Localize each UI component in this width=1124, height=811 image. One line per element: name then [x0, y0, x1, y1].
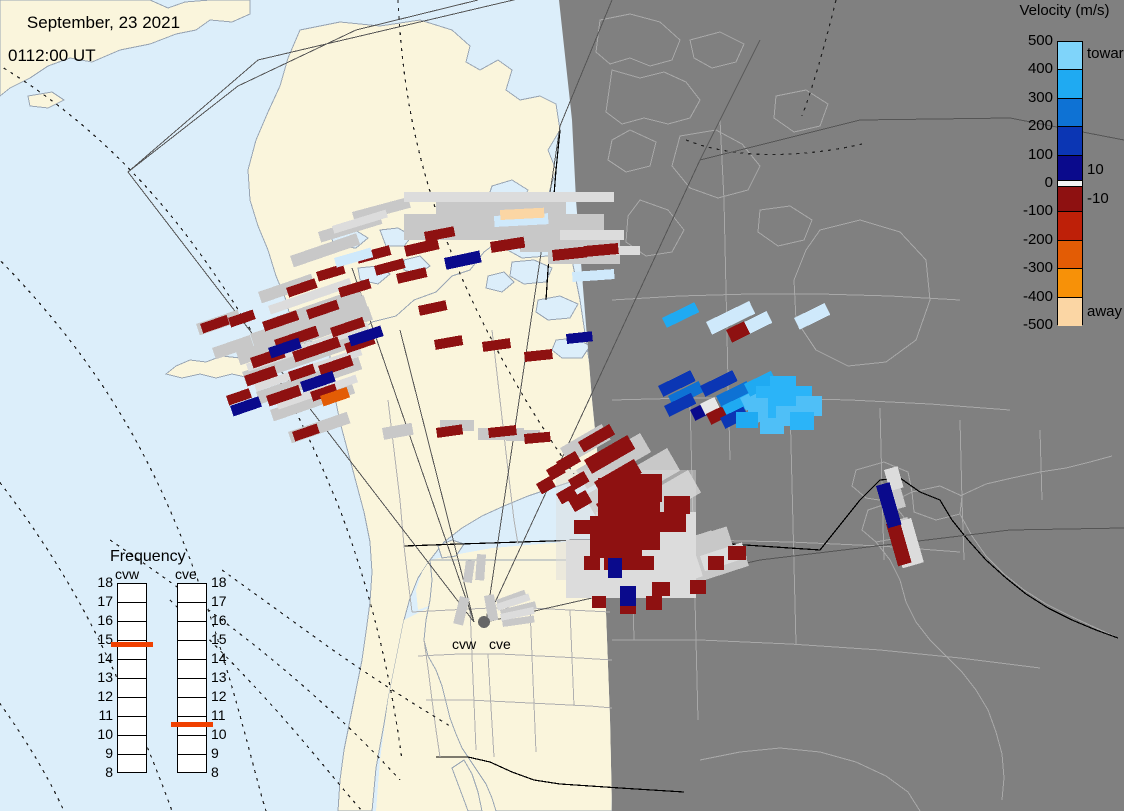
frequency-tick-label: 14: [93, 650, 113, 666]
frequency-legend: Frequency cvwcve 18181717161615151414131…: [85, 548, 245, 783]
frequency-tick-label: 13: [93, 669, 113, 685]
radar-site-label: cve: [489, 636, 511, 652]
frequency-tick-label: 17: [211, 593, 227, 609]
colorbar-segment: [1058, 156, 1082, 182]
frequency-tick-label: 11: [93, 707, 113, 723]
colorbar-segment: [1058, 127, 1082, 155]
frequency-tick-label: 17: [93, 593, 113, 609]
frequency-tick-label: 18: [211, 574, 227, 590]
frequency-cell: [178, 622, 206, 641]
colorbar-side-label: away: [1087, 303, 1122, 320]
frequency-cell: [178, 641, 206, 660]
colorbar-bar: [1057, 41, 1083, 325]
colorbar-tick-label: 100: [1028, 146, 1053, 163]
frequency-tick-label: 9: [211, 745, 219, 761]
frequency-tick-label: 8: [93, 764, 113, 780]
colorbar-segment: [1058, 99, 1082, 127]
frequency-cell: [178, 755, 206, 774]
frequency-cell: [118, 679, 146, 698]
colorbar-side-label: toward: [1087, 45, 1124, 62]
frequency-cell: [118, 717, 146, 736]
frequency-tick-label: 18: [93, 574, 113, 590]
colorbar-tick-label: -500: [1023, 316, 1053, 333]
colorbar-segment: [1058, 187, 1082, 213]
colorbar-side-label: -10: [1087, 190, 1109, 207]
colorbar-segment: [1058, 70, 1082, 98]
colorbar-tick-label: -100: [1023, 202, 1053, 219]
colorbar-side-label: 10: [1087, 161, 1104, 178]
frequency-marker: [171, 722, 213, 727]
colorbar-tick-label: 500: [1028, 32, 1053, 49]
colorbar-segment: [1058, 298, 1082, 326]
frequency-column-header: cvw: [115, 566, 139, 582]
colorbar-tick-label: 300: [1028, 89, 1053, 106]
radar-site-marker: [478, 616, 490, 628]
colorbar-tick-label: -400: [1023, 288, 1053, 305]
frequency-tick-label: 10: [211, 726, 227, 742]
frequency-cell: [118, 660, 146, 679]
title-time: 0112:00 UT: [8, 48, 180, 64]
frequency-cell: [178, 584, 206, 603]
colorbar-tick-label: 200: [1028, 117, 1053, 134]
frequency-cell: [178, 603, 206, 622]
colorbar-tick-label: 400: [1028, 60, 1053, 77]
frequency-cell: [118, 603, 146, 622]
colorbar-tick-label: -200: [1023, 231, 1053, 248]
superdarn-velocity-map: September, 23 2021 0112:00 UT Velocity (…: [0, 0, 1124, 811]
frequency-tick-label: 16: [93, 612, 113, 628]
frequency-marker: [111, 642, 153, 647]
frequency-tick-label: 15: [211, 631, 227, 647]
frequency-column-cvw: [117, 583, 147, 773]
colorbar-title: Velocity (m/s): [1005, 2, 1124, 19]
timestamp-title: September, 23 2021 0112:00 UT: [8, 0, 180, 96]
frequency-tick-label: 8: [211, 764, 219, 780]
colorbar-segment: [1058, 241, 1082, 269]
frequency-cell: [118, 698, 146, 717]
frequency-cell: [118, 736, 146, 755]
title-date: September, 23 2021: [27, 13, 180, 32]
frequency-tick-label: 15: [93, 631, 113, 647]
colorbar-segment: [1058, 269, 1082, 297]
radar-site-label: cvw: [452, 636, 476, 652]
colorbar-segment: [1058, 212, 1082, 240]
frequency-cell: [178, 698, 206, 717]
frequency-cell: [118, 622, 146, 641]
frequency-tick-label: 12: [211, 688, 227, 704]
colorbar-tick-label: 0: [1045, 174, 1053, 191]
frequency-tick-label: 11: [211, 707, 226, 723]
frequency-cell: [118, 584, 146, 603]
frequency-tick-label: 13: [211, 669, 227, 685]
frequency-title: Frequency: [110, 548, 186, 566]
colorbar-tick-label: -300: [1023, 259, 1053, 276]
frequency-tick-label: 12: [93, 688, 113, 704]
frequency-cell: [178, 736, 206, 755]
frequency-column-header: cve: [175, 566, 197, 582]
frequency-tick-label: 9: [93, 745, 113, 761]
frequency-column-cve: [177, 583, 207, 773]
frequency-tick-label: 10: [93, 726, 113, 742]
frequency-cell: [118, 755, 146, 774]
frequency-tick-label: 16: [211, 612, 227, 628]
colorbar-segment: [1058, 42, 1082, 70]
frequency-cell: [178, 679, 206, 698]
velocity-colorbar: Velocity (m/s) 5004003002001000-100-200-…: [1005, 2, 1124, 332]
frequency-cell: [178, 660, 206, 679]
frequency-tick-label: 14: [211, 650, 227, 666]
